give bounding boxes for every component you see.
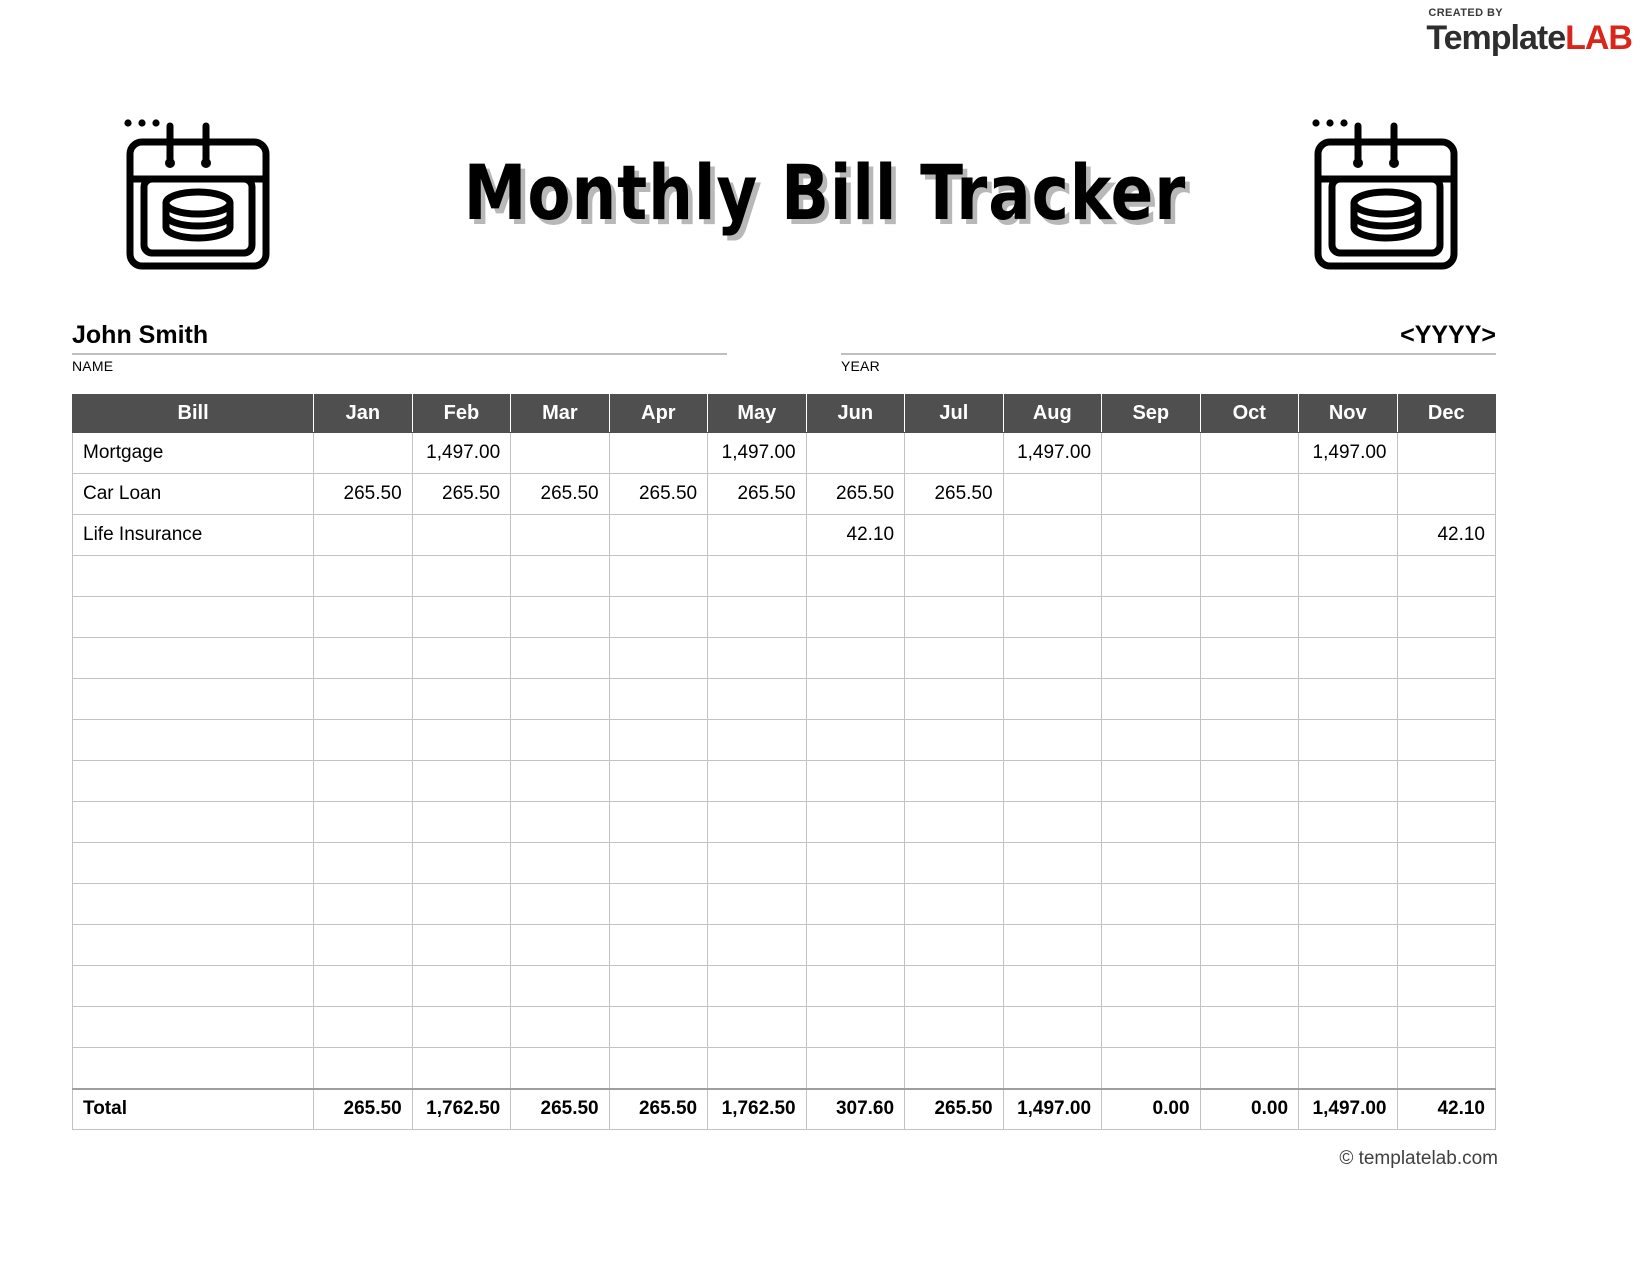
amount-cell[interactable] [1299,679,1397,720]
bill-tracker-table-wrapper: BillJanFebMarAprMayJunJulAugSepOctNovDec… [72,394,1496,1130]
amount-cell[interactable] [1102,556,1200,597]
amount-cell[interactable] [806,556,904,597]
amount-cell[interactable] [609,433,707,474]
year-value[interactable]: <YYYY> [841,320,1496,353]
amount-cell[interactable] [1102,761,1200,802]
table-row [73,720,1496,761]
amount-cell[interactable] [1200,802,1298,843]
total-amount-cell: 0.00 [1200,1089,1298,1130]
amount-cell[interactable] [1102,720,1200,761]
amount-cell[interactable] [412,843,510,884]
amount-cell[interactable]: 265.50 [314,474,412,515]
bill-name-cell[interactable] [73,556,314,597]
total-amount-cell: 42.10 [1397,1089,1496,1130]
amount-cell[interactable] [412,556,510,597]
amount-cell[interactable] [1200,925,1298,966]
column-header-jul: Jul [905,395,1003,433]
amount-cell[interactable] [905,1048,1003,1089]
amount-cell[interactable] [412,597,510,638]
bill-name-cell[interactable] [73,679,314,720]
amount-cell[interactable] [511,720,609,761]
amount-cell[interactable] [905,843,1003,884]
amount-cell[interactable] [905,433,1003,474]
bill-name-cell[interactable] [73,925,314,966]
amount-cell[interactable] [1200,597,1298,638]
amount-cell[interactable] [511,638,609,679]
amount-cell[interactable] [1299,1048,1397,1089]
amount-cell[interactable] [1299,597,1397,638]
amount-cell[interactable] [1102,884,1200,925]
amount-cell[interactable] [609,515,707,556]
amount-cell[interactable] [1200,638,1298,679]
amount-cell[interactable] [905,966,1003,1007]
amount-cell[interactable] [1003,761,1101,802]
table-row [73,843,1496,884]
total-amount-cell: 1,497.00 [1299,1089,1397,1130]
amount-cell[interactable] [806,679,904,720]
amount-cell[interactable] [511,433,609,474]
amount-cell[interactable] [708,925,806,966]
table-row [73,884,1496,925]
amount-cell[interactable] [905,884,1003,925]
templatelab-brand: CREATED BY TemplateLAB [1426,8,1632,55]
amount-cell[interactable] [1102,433,1200,474]
amount-cell[interactable] [806,597,904,638]
amount-cell[interactable] [806,925,904,966]
amount-cell[interactable] [1102,925,1200,966]
amount-cell[interactable] [1003,1048,1101,1089]
bill-name-cell[interactable] [73,1048,314,1089]
amount-cell[interactable] [412,638,510,679]
amount-cell[interactable] [1397,638,1496,679]
amount-cell[interactable] [1102,843,1200,884]
amount-cell[interactable] [806,1007,904,1048]
table-footer: Total265.501,762.50265.50265.501,762.503… [73,1089,1496,1130]
column-header-jun: Jun [806,395,904,433]
amount-cell[interactable] [708,638,806,679]
column-header-bill: Bill [73,395,314,433]
amount-cell[interactable] [609,1007,707,1048]
amount-cell[interactable] [412,679,510,720]
amount-cell[interactable] [1397,966,1496,1007]
amount-cell[interactable] [1397,556,1496,597]
total-amount-cell: 0.00 [1102,1089,1200,1130]
amount-cell[interactable] [1200,1048,1298,1089]
amount-cell[interactable] [1397,925,1496,966]
table-row: Car Loan265.50265.50265.50265.50265.5026… [73,474,1496,515]
amount-cell[interactable] [511,1048,609,1089]
amount-cell[interactable] [1200,720,1298,761]
column-header-apr: Apr [609,395,707,433]
amount-cell[interactable] [708,802,806,843]
amount-cell[interactable] [1299,925,1397,966]
amount-cell[interactable] [1102,679,1200,720]
total-label-cell: Total [73,1089,314,1130]
amount-cell[interactable] [511,966,609,1007]
column-header-feb: Feb [412,395,510,433]
amount-cell[interactable] [314,966,412,1007]
total-amount-cell: 1,497.00 [1003,1089,1101,1130]
amount-cell[interactable] [1200,474,1298,515]
brand-wordmark: TemplateLAB [1426,21,1632,55]
amount-cell[interactable] [412,720,510,761]
year-label: YEAR [841,355,1496,374]
amount-cell[interactable] [511,515,609,556]
amount-cell[interactable] [1299,720,1397,761]
amount-cell[interactable] [314,720,412,761]
amount-cell[interactable] [1200,433,1298,474]
amount-cell[interactable] [511,843,609,884]
bill-name-cell[interactable] [73,761,314,802]
amount-cell[interactable] [1200,884,1298,925]
amount-cell[interactable] [1003,925,1101,966]
amount-cell[interactable] [708,761,806,802]
amount-cell[interactable] [708,1007,806,1048]
bill-name-cell[interactable]: Car Loan [73,474,314,515]
amount-cell[interactable] [1397,884,1496,925]
total-row: Total265.501,762.50265.50265.501,762.503… [73,1089,1496,1130]
amount-cell[interactable] [412,515,510,556]
amount-cell[interactable] [1102,802,1200,843]
table-row [73,1048,1496,1089]
amount-cell[interactable] [806,720,904,761]
amount-cell[interactable] [708,720,806,761]
amount-cell[interactable] [609,679,707,720]
amount-cell[interactable]: 265.50 [905,474,1003,515]
amount-cell[interactable] [412,925,510,966]
amount-cell[interactable] [1299,884,1397,925]
amount-cell[interactable] [1299,515,1397,556]
table-row: Life Insurance42.1042.10 [73,515,1496,556]
brand-wordmark-lab: LAB [1565,19,1632,57]
amount-cell[interactable] [412,1007,510,1048]
amount-cell[interactable] [1200,1007,1298,1048]
amount-cell[interactable] [314,556,412,597]
column-header-aug: Aug [1003,395,1101,433]
amount-cell[interactable] [905,761,1003,802]
amount-cell[interactable] [905,802,1003,843]
bill-tracker-table: BillJanFebMarAprMayJunJulAugSepOctNovDec… [72,394,1496,1130]
amount-cell[interactable]: 1,497.00 [1299,433,1397,474]
amount-cell[interactable] [1003,802,1101,843]
form-fields: John Smith NAME <YYYY> YEAR [72,320,1496,374]
amount-cell[interactable] [806,433,904,474]
amount-cell[interactable] [314,925,412,966]
amount-cell[interactable] [1200,966,1298,1007]
amount-cell[interactable] [1003,679,1101,720]
total-amount-cell: 1,762.50 [708,1089,806,1130]
amount-cell[interactable] [609,597,707,638]
amount-cell[interactable]: 1,497.00 [412,433,510,474]
table-row [73,679,1496,720]
amount-cell[interactable]: 1,497.00 [708,433,806,474]
bill-name-cell[interactable] [73,1007,314,1048]
bill-name-cell[interactable] [73,638,314,679]
amount-cell[interactable] [806,761,904,802]
amount-cell[interactable] [1200,843,1298,884]
amount-cell[interactable] [314,884,412,925]
column-header-dec: Dec [1397,395,1496,433]
table-body: Mortgage1,497.001,497.001,497.001,497.00… [73,433,1496,1089]
bill-name-cell[interactable] [73,720,314,761]
amount-cell[interactable] [905,515,1003,556]
amount-cell[interactable] [905,720,1003,761]
table-row [73,638,1496,679]
amount-cell[interactable] [609,843,707,884]
amount-cell[interactable] [314,515,412,556]
amount-cell[interactable] [1003,638,1101,679]
column-header-may: May [708,395,806,433]
amount-cell[interactable] [1299,1007,1397,1048]
brand-wordmark-template: Template [1426,19,1565,57]
amount-cell[interactable] [1003,515,1101,556]
amount-cell[interactable] [905,925,1003,966]
name-label: NAME [72,355,727,374]
amount-cell[interactable] [1102,1007,1200,1048]
amount-cell[interactable] [511,884,609,925]
total-amount-cell: 265.50 [511,1089,609,1130]
amount-cell[interactable] [412,761,510,802]
amount-cell[interactable]: 265.50 [609,474,707,515]
amount-cell[interactable] [1397,1048,1496,1089]
brand-created-by: CREATED BY [1426,8,1632,19]
amount-cell[interactable] [708,843,806,884]
total-amount-cell: 307.60 [806,1089,904,1130]
amount-cell[interactable] [806,884,904,925]
amount-cell[interactable] [1003,884,1101,925]
amount-cell[interactable] [1102,474,1200,515]
amount-cell[interactable] [511,925,609,966]
amount-cell[interactable] [1200,679,1298,720]
column-header-mar: Mar [511,395,609,433]
amount-cell[interactable] [1003,966,1101,1007]
table-row [73,966,1496,1007]
total-amount-cell: 265.50 [609,1089,707,1130]
amount-cell[interactable] [806,966,904,1007]
amount-cell[interactable] [511,679,609,720]
amount-cell[interactable] [314,802,412,843]
amount-cell[interactable] [1397,433,1496,474]
table-row [73,925,1496,966]
amount-cell[interactable] [412,884,510,925]
amount-cell[interactable] [708,884,806,925]
column-header-oct: Oct [1200,395,1298,433]
amount-cell[interactable] [1102,597,1200,638]
amount-cell[interactable] [1102,515,1200,556]
name-field[interactable]: John Smith NAME [72,320,727,374]
amount-cell[interactable] [1397,761,1496,802]
amount-cell[interactable] [1299,966,1397,1007]
amount-cell[interactable] [1003,1007,1101,1048]
amount-cell[interactable] [314,638,412,679]
amount-cell[interactable] [806,843,904,884]
amount-cell[interactable] [314,433,412,474]
amount-cell[interactable] [1003,556,1101,597]
amount-cell[interactable] [314,1007,412,1048]
amount-cell[interactable] [905,638,1003,679]
amount-cell[interactable] [806,802,904,843]
amount-cell[interactable] [412,966,510,1007]
amount-cell[interactable] [609,884,707,925]
amount-cell[interactable] [1397,720,1496,761]
amount-cell[interactable] [511,761,609,802]
amount-cell[interactable] [609,720,707,761]
amount-cell[interactable] [1299,761,1397,802]
amount-cell[interactable] [1397,474,1496,515]
amount-cell[interactable] [412,802,510,843]
amount-cell[interactable]: 42.10 [806,515,904,556]
amount-cell[interactable] [1102,966,1200,1007]
copyright-footer: © templatelab.com [0,1148,1650,1170]
amount-cell[interactable] [806,638,904,679]
amount-cell[interactable] [511,802,609,843]
amount-cell[interactable]: 265.50 [412,474,510,515]
amount-cell[interactable] [511,556,609,597]
bill-name-cell[interactable] [73,597,314,638]
amount-cell[interactable] [905,679,1003,720]
total-amount-cell: 265.50 [314,1089,412,1130]
amount-cell[interactable] [1003,843,1101,884]
amount-cell[interactable] [708,1048,806,1089]
amount-cell[interactable] [708,556,806,597]
amount-cell[interactable] [1397,597,1496,638]
bill-name-cell[interactable] [73,843,314,884]
table-header-row: BillJanFebMarAprMayJunJulAugSepOctNovDec [73,395,1496,433]
calendar-money-icon [1296,108,1476,283]
amount-cell[interactable] [1200,556,1298,597]
amount-cell[interactable] [1200,515,1298,556]
column-header-nov: Nov [1299,395,1397,433]
amount-cell[interactable] [511,1007,609,1048]
table-row [73,597,1496,638]
amount-cell[interactable] [609,802,707,843]
amount-cell[interactable] [511,597,609,638]
amount-cell[interactable] [708,515,806,556]
amount-cell[interactable] [806,1048,904,1089]
table-row [73,556,1496,597]
amount-cell[interactable] [314,679,412,720]
amount-cell[interactable]: 265.50 [708,474,806,515]
bill-name-cell[interactable]: Mortgage [73,433,314,474]
amount-cell[interactable] [1200,761,1298,802]
amount-cell[interactable] [609,1048,707,1089]
amount-cell[interactable] [1299,474,1397,515]
amount-cell[interactable]: 1,497.00 [1003,433,1101,474]
bill-name-cell[interactable] [73,966,314,1007]
amount-cell[interactable] [609,638,707,679]
amount-cell[interactable]: 265.50 [806,474,904,515]
amount-cell[interactable] [1003,720,1101,761]
amount-cell[interactable] [1397,802,1496,843]
amount-cell[interactable] [609,556,707,597]
amount-cell[interactable] [1397,679,1496,720]
amount-cell[interactable] [1299,802,1397,843]
table-row [73,761,1496,802]
amount-cell[interactable] [905,1007,1003,1048]
amount-cell[interactable] [708,679,806,720]
column-header-jan: Jan [314,395,412,433]
page-header: Monthly Bill Tracker [0,100,1650,290]
table-row [73,802,1496,843]
amount-cell[interactable] [314,1048,412,1089]
amount-cell[interactable] [609,966,707,1007]
amount-cell[interactable] [609,761,707,802]
amount-cell[interactable]: 42.10 [1397,515,1496,556]
table-row [73,1007,1496,1048]
total-amount-cell: 265.50 [905,1089,1003,1130]
amount-cell[interactable] [708,966,806,1007]
amount-cell[interactable] [905,597,1003,638]
amount-cell[interactable] [314,761,412,802]
amount-cell[interactable] [1397,1007,1496,1048]
amount-cell[interactable] [609,925,707,966]
column-header-sep: Sep [1102,395,1200,433]
amount-cell[interactable]: 265.50 [511,474,609,515]
bill-name-cell[interactable] [73,884,314,925]
amount-cell[interactable] [1003,597,1101,638]
total-amount-cell: 1,762.50 [412,1089,510,1130]
amount-cell[interactable] [1299,638,1397,679]
amount-cell[interactable] [708,597,806,638]
name-value[interactable]: John Smith [72,320,727,353]
amount-cell[interactable] [314,843,412,884]
table-header: BillJanFebMarAprMayJunJulAugSepOctNovDec [73,395,1496,433]
amount-cell[interactable] [412,1048,510,1089]
amount-cell[interactable] [1299,556,1397,597]
table-row: Mortgage1,497.001,497.001,497.001,497.00 [73,433,1496,474]
amount-cell[interactable] [1397,843,1496,884]
amount-cell[interactable] [905,556,1003,597]
amount-cell[interactable] [1299,843,1397,884]
bill-name-cell[interactable] [73,802,314,843]
amount-cell[interactable] [1102,1048,1200,1089]
year-field[interactable]: <YYYY> YEAR [841,320,1496,374]
bill-name-cell[interactable]: Life Insurance [73,515,314,556]
amount-cell[interactable] [1003,474,1101,515]
amount-cell[interactable] [314,597,412,638]
amount-cell[interactable] [1102,638,1200,679]
